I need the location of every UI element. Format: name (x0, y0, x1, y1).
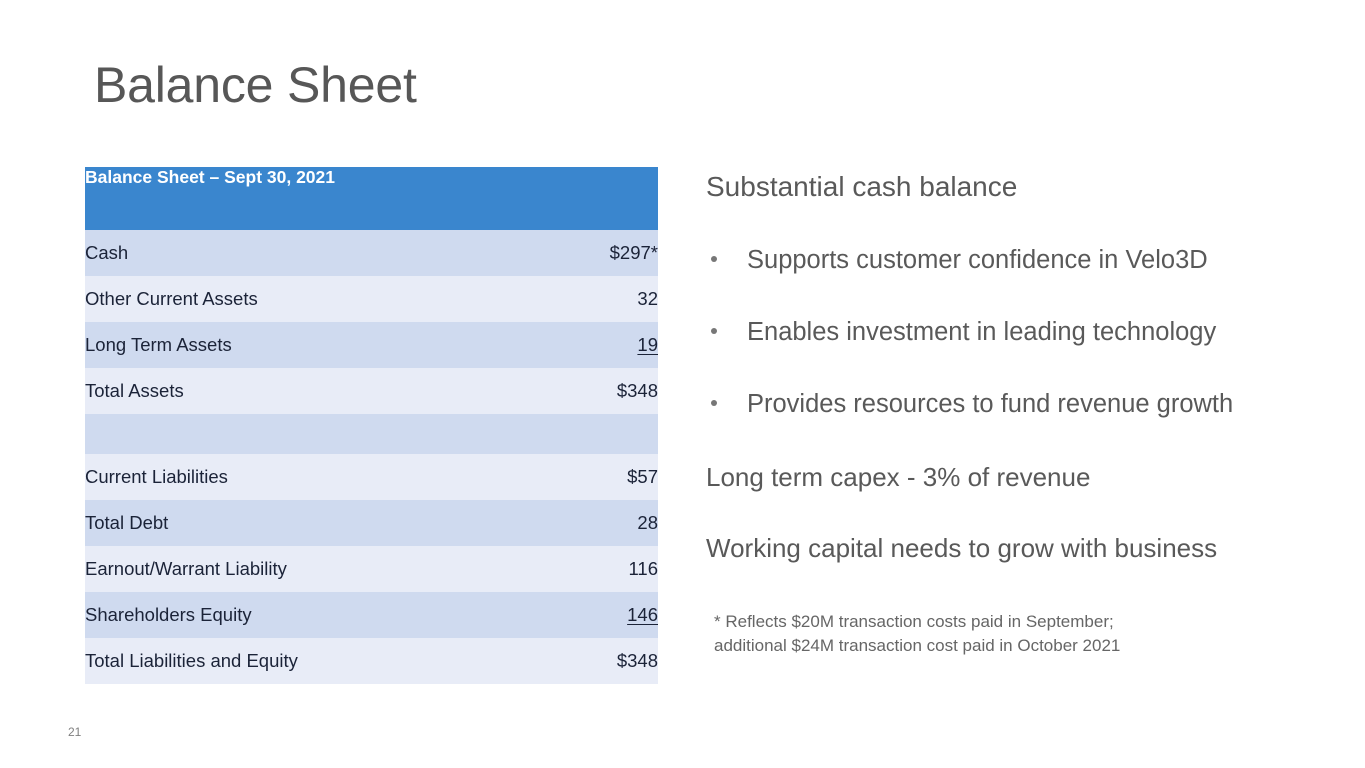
table-cell-value-text: 19 (637, 334, 658, 355)
table-header-label: Balance Sheet – Sept 30, 2021 (85, 167, 551, 230)
table-cell-value-text: $348 (617, 380, 658, 401)
table-row: Current Liabilities$57 (85, 454, 658, 500)
footnote: * Reflects $20M transaction costs paid i… (714, 610, 1356, 658)
table-cell-label: Other Current Assets (85, 276, 551, 322)
table-cell-value: 116 (551, 546, 658, 592)
footnote-line-2: additional $24M transaction cost paid in… (714, 634, 1356, 658)
table-row (85, 414, 658, 454)
list-item: Enables investment in leading technology (706, 316, 1356, 348)
statement-working-capital: Working capital needs to grow with busin… (706, 532, 1356, 564)
table-cell-value-text: 32 (637, 288, 658, 309)
bullet-dot-icon (711, 400, 717, 406)
page-title: Balance Sheet (94, 54, 417, 116)
table-cell-value: 146 (551, 592, 658, 638)
table-row: Cash$297* (85, 230, 658, 276)
table-cell-label (85, 414, 551, 454)
table-cell-value (551, 414, 658, 454)
table-cell-label: Total Liabilities and Equity (85, 638, 551, 684)
list-item: Provides resources to fund revenue growt… (706, 388, 1356, 420)
table-cell-value-text: $348 (617, 650, 658, 671)
list-item-label: Enables investment in leading technology (747, 318, 1216, 346)
table-cell-label: Cash (85, 230, 551, 276)
bullet-list: Supports customer confidence in Velo3DEn… (706, 244, 1356, 420)
table-row: Earnout/Warrant Liability116 (85, 546, 658, 592)
notes-panel: Substantial cash balance Supports custom… (706, 170, 1356, 658)
bullet-dot-icon (711, 256, 717, 262)
table-header: Balance Sheet – Sept 30, 2021 (85, 167, 658, 230)
slide-canvas: Balance Sheet Balance Sheet – Sept 30, 2… (0, 0, 1365, 768)
table-row: Long Term Assets19 (85, 322, 658, 368)
table-cell-label: Long Term Assets (85, 322, 551, 368)
table-cell-label: Shareholders Equity (85, 592, 551, 638)
table-header-row: Balance Sheet – Sept 30, 2021 (85, 167, 658, 230)
table-cell-value-text: 116 (629, 558, 659, 579)
table-row: Total Debt28 (85, 500, 658, 546)
table-row: Shareholders Equity146 (85, 592, 658, 638)
notes-headline: Substantial cash balance (706, 170, 1356, 204)
table-cell-value: $348 (551, 638, 658, 684)
bullet-dot-icon (711, 328, 717, 334)
table-cell-value: $348 (551, 368, 658, 414)
table-cell-value-text: 28 (637, 512, 658, 533)
table-row: Total Liabilities and Equity$348 (85, 638, 658, 684)
list-item-label: Provides resources to fund revenue growt… (747, 390, 1233, 418)
table-cell-label: Current Liabilities (85, 454, 551, 500)
table-cell-value-text: 146 (627, 604, 658, 625)
balance-sheet-table: Balance Sheet – Sept 30, 2021 Cash$297*O… (85, 167, 658, 684)
table-row: Total Assets$348 (85, 368, 658, 414)
table-cell-label: Earnout/Warrant Liability (85, 546, 551, 592)
table-cell-value-text: $57 (627, 466, 658, 487)
table-body: Cash$297*Other Current Assets32Long Term… (85, 230, 658, 684)
table-cell-value-text: $297* (610, 242, 658, 263)
table-cell-value: $57 (551, 454, 658, 500)
table-cell-label: Total Assets (85, 368, 551, 414)
table-header-value (551, 167, 658, 230)
table-cell-value: $297* (551, 230, 658, 276)
statement-capex: Long term capex - 3% of revenue (706, 461, 1356, 493)
list-item-label: Supports customer confidence in Velo3D (747, 246, 1208, 274)
table-cell-value: 28 (551, 500, 658, 546)
table-row: Other Current Assets32 (85, 276, 658, 322)
footnote-line-1: * Reflects $20M transaction costs paid i… (714, 610, 1356, 634)
table-cell-label: Total Debt (85, 500, 551, 546)
page-number: 21 (68, 725, 81, 739)
list-item: Supports customer confidence in Velo3D (706, 244, 1356, 276)
table-cell-value: 19 (551, 322, 658, 368)
table-cell-value: 32 (551, 276, 658, 322)
